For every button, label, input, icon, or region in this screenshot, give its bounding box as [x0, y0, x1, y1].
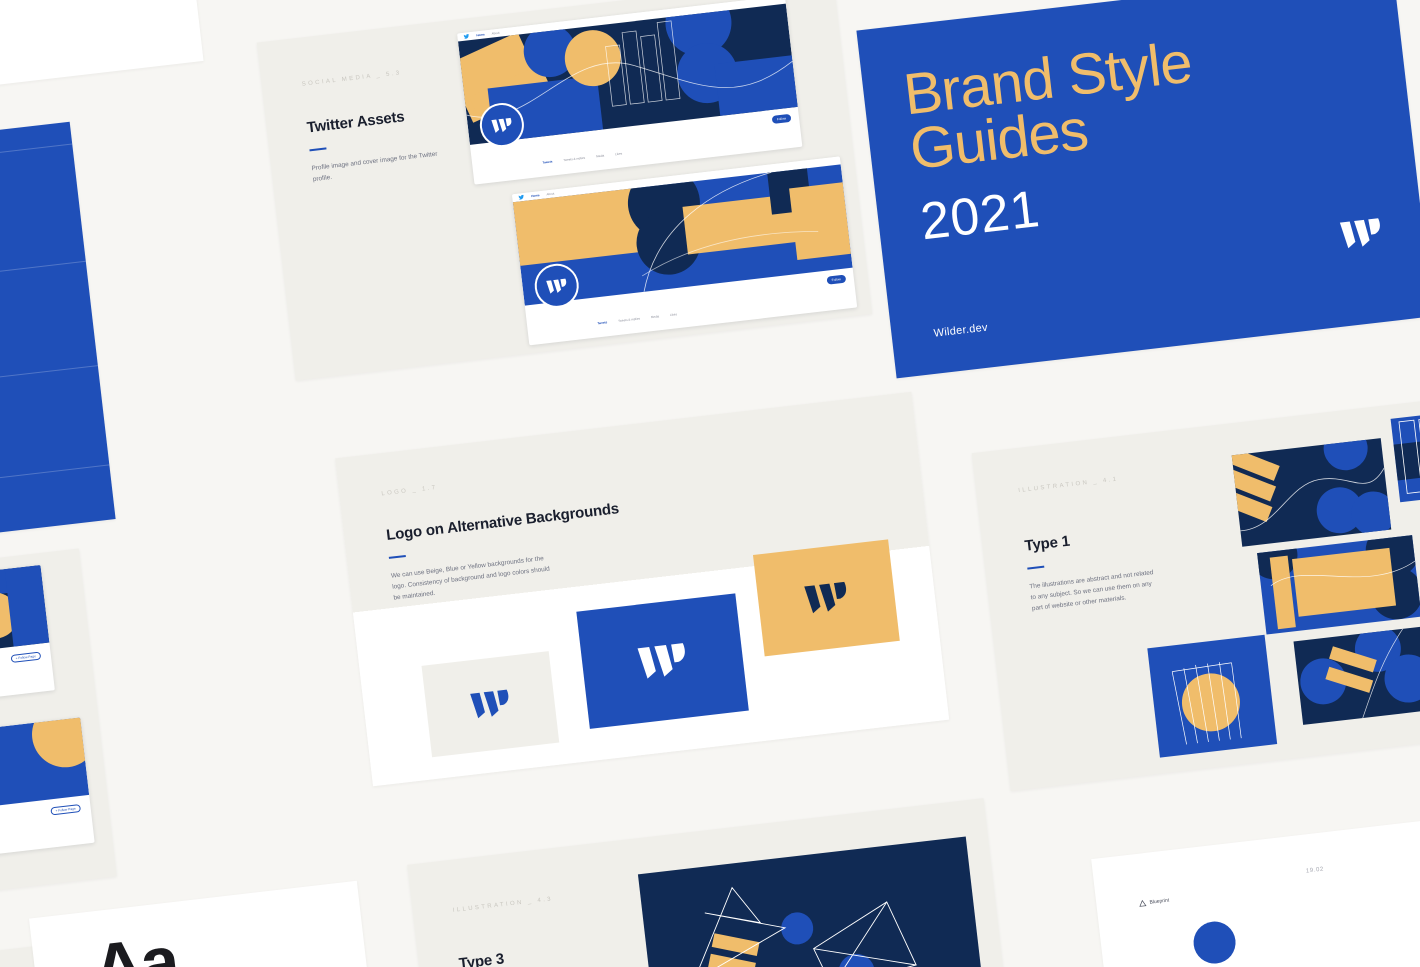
twitter-nav-about[interactable]: About — [491, 31, 499, 36]
eyebrow-type1: ILLUSTRATION _ 4.1 — [1018, 477, 1119, 495]
wilder-logomark-icon — [468, 688, 513, 721]
contents-grid-line-h4 — [0, 464, 109, 541]
linkedin-cover-image-2 — [0, 717, 89, 835]
body-twitter: Profile image and cover image for the Tw… — [311, 148, 443, 185]
twitter-tab-replies[interactable]: Tweets & replies — [618, 316, 640, 323]
slide-illustration-type-3[interactable]: ILLUSTRATION _ 4.3 Type 3 Use this type … — [407, 798, 1021, 967]
slide-illustration-type-1[interactable]: ILLUSTRATION _ 4.1 Type 1 The illustrati… — [972, 384, 1420, 791]
title-logo-alt: Logo on Alternative Backgrounds — [385, 500, 620, 544]
illustration-tile-e[interactable] — [1147, 635, 1277, 758]
blueprint-label-row: Blueprint — [1138, 897, 1169, 908]
slide-linkedin-assets[interactable]: SOCIAL MEDIA _ 5.2 Linkedin Assets Profi… — [0, 548, 117, 945]
logo-tile-yellow[interactable] — [753, 539, 900, 656]
linkedin-cover-image-1 — [0, 565, 49, 683]
type1-rule — [1027, 566, 1044, 570]
twitter-profile-card-2[interactable]: Home About — [512, 156, 857, 345]
twitter-nav-home[interactable]: Home — [476, 32, 485, 37]
twitter-nav-home[interactable]: Home — [531, 193, 540, 198]
blueprint-eyebrow: 19.02 — [1306, 867, 1325, 875]
cover-title: Brand Style Guides — [901, 35, 1201, 178]
font-specimen-aa: Aa — [89, 920, 181, 967]
slide-contents[interactable]: Logo 1.1 _ Primary Logo 1.2 _ Logomark 1… — [0, 122, 116, 595]
logo-tile-beige[interactable] — [422, 651, 560, 757]
eyebrow-type3: ILLUSTRATION _ 4.3 — [453, 896, 554, 914]
linkedin-cover-lines-1 — [0, 565, 49, 683]
twitter-tab-replies[interactable]: Tweets & replies — [563, 156, 585, 163]
twitter-tab-tweets[interactable]: Tweets — [597, 320, 607, 325]
twitter-tab-media[interactable]: Media — [651, 314, 660, 319]
cover-logomark — [1338, 217, 1385, 251]
rotated-slide-board: COLORS _ 2.1 Main Colors Beige #F1F0E7 D… — [0, 0, 1420, 967]
linkedin-profile-card-1[interactable]: Wilder We are trusted web devs wilder.de… — [0, 565, 55, 730]
twitter-follow-button-1[interactable]: Follow — [771, 114, 791, 124]
wilder-logomark-icon — [545, 277, 569, 294]
eyebrow-twitter: SOCIAL MEDIA _ 5.3 — [302, 70, 402, 87]
blueprint-dot — [1191, 919, 1238, 966]
contents-grid-line-h1 — [0, 144, 72, 221]
cover-year: 2021 — [917, 179, 1043, 252]
illustration-tile-d[interactable] — [1293, 627, 1420, 725]
slide-fonts-specimen[interactable]: Neue Machina Aa ABCDEFGHIJKLMNOPQRSTUVWX… — [29, 881, 395, 967]
eyebrow-logo-alt: LOGO _ 1.7 — [381, 485, 438, 497]
twitter-tab-likes[interactable]: Likes — [615, 151, 622, 156]
wilder-logomark-icon — [635, 641, 691, 681]
twitter-tabs-1[interactable]: Tweets Tweets & replies Media Likes — [542, 151, 622, 164]
body-logo-alt: We can use Beige, Blue or Yellow backgro… — [390, 552, 553, 604]
svg-text:Q: Q — [828, 963, 884, 967]
wilder-logomark-icon — [1338, 217, 1385, 251]
twitter-bird-icon — [463, 33, 470, 40]
linkedin-profile-card-2[interactable]: Wilder We are trusted web devs wilder.de… — [0, 717, 95, 882]
blueprint-label: Blueprint — [1149, 898, 1169, 906]
twitter-tab-media[interactable]: Media — [596, 154, 605, 159]
slide-grid-canvas: COLORS _ 2.1 Main Colors Beige #F1F0E7 D… — [0, 0, 1420, 967]
title-twitter: Twitter Assets — [306, 108, 405, 136]
contents-grid-line-h2 — [0, 261, 86, 338]
contents-grid-line-h3 — [0, 365, 98, 442]
logo-tile-blue[interactable] — [576, 593, 749, 729]
slide-blueprint[interactable]: Blueprint 19.02 — [1091, 795, 1420, 967]
linkedin-follow-button-1[interactable]: + Follow Page — [10, 652, 41, 663]
slide-main-colors[interactable]: COLORS _ 2.1 Main Colors Beige #F1F0E7 D… — [0, 0, 204, 118]
twitter-bird-icon — [518, 194, 525, 201]
linkedin-cover-lines-2 — [0, 717, 89, 835]
twitter-tab-likes[interactable]: Likes — [670, 312, 677, 317]
twitter-profile-card-1[interactable]: Home About — [457, 0, 802, 185]
twitter-tab-tweets[interactable]: Tweets — [542, 160, 552, 165]
logo-alt-rule — [389, 555, 406, 559]
title-type3: Type 3 — [458, 950, 505, 967]
illustration-tile-c[interactable] — [1257, 535, 1420, 634]
slide-logo-alternative-backgrounds[interactable]: LOGO _ 1.7 Logo on Alternative Backgroun… — [335, 392, 949, 786]
linkedin-follow-button-2[interactable]: + Follow Page — [50, 804, 81, 815]
wilder-logomark-icon — [802, 580, 851, 615]
illustration-type3-artwork[interactable]: Q — [638, 836, 993, 967]
twitter-tabs-2[interactable]: Tweets Tweets & replies Media Likes — [597, 312, 677, 325]
wilder-logomark-icon — [490, 116, 514, 133]
title-type1: Type 1 — [1024, 533, 1071, 555]
blueprint-icon — [1138, 899, 1147, 908]
body-type1: The illustrations are abstract and not r… — [1029, 567, 1162, 615]
twitter-follow-button-2[interactable]: Follow — [826, 275, 846, 285]
illustration-tile-b[interactable] — [1391, 406, 1420, 503]
twitter-rule — [309, 147, 326, 151]
slide-cover[interactable]: Brand Style Guides 2021 Wilder.dev — [856, 0, 1420, 378]
slide-twitter-assets[interactable]: SOCIAL MEDIA _ 5.3 Twitter Assets Profil… — [257, 0, 872, 380]
cover-url: Wilder.dev — [933, 322, 988, 340]
illustration-tile-a[interactable] — [1232, 438, 1392, 547]
twitter-nav-about[interactable]: About — [546, 191, 554, 196]
